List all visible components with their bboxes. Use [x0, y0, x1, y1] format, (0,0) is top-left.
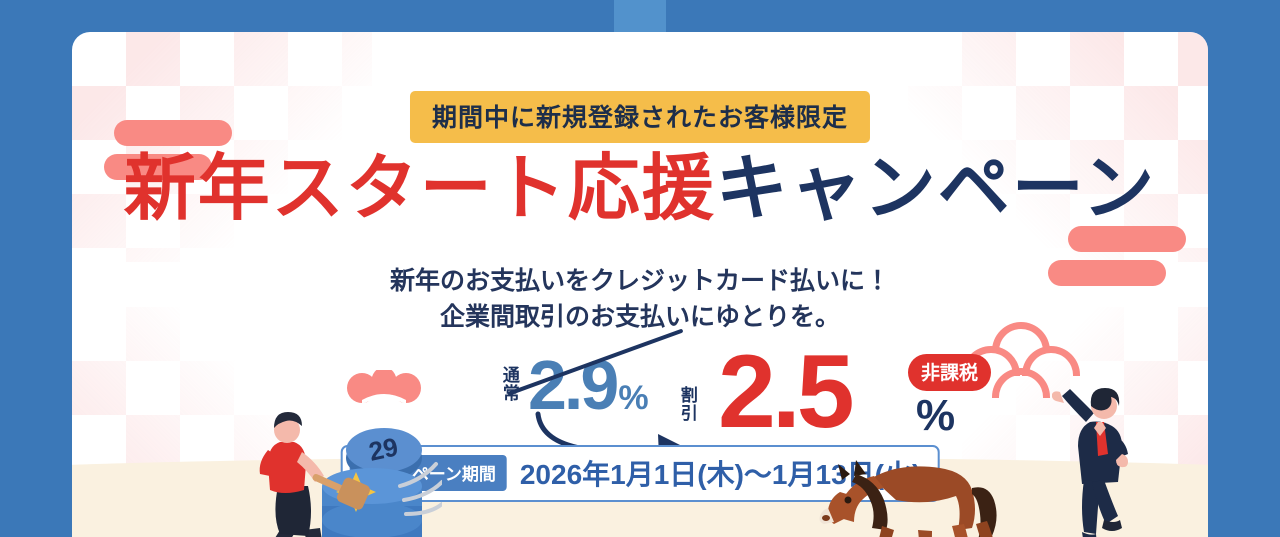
- mochi-pounding-illustration: [232, 390, 442, 537]
- subtitle: 新年のお支払いをクレジットカード払いに！ 企業間取引のお支払いにゆとりを。: [390, 264, 890, 335]
- eligibility-badge: 期間中に新規登録されたお客様限定: [410, 91, 870, 143]
- horse-illustration: [812, 430, 1012, 537]
- coin-stack-icon: [322, 468, 422, 537]
- title-part-navy: キャンペーン: [716, 149, 1156, 229]
- discount-rate-label: 割引: [678, 386, 696, 422]
- tax-free-badge: 非課税: [908, 354, 991, 391]
- discount-rate-value: 2.5: [718, 340, 851, 444]
- subtitle-line-2: 企業間取引のお支払いにゆとりを。: [390, 300, 890, 336]
- page-title: 新年スタート応援キャンペーン: [124, 153, 1156, 225]
- normal-rate-label: 通常: [500, 366, 518, 402]
- businesswoman-illustration: [1052, 382, 1168, 537]
- promo-card: 期間中に新規登録されたお客様限定 新年スタート応援キャンペーン 新年のお支払いを…: [72, 32, 1208, 537]
- subtitle-line-1: 新年のお支払いをクレジットカード払いに！: [390, 264, 890, 300]
- title-part-red: 新年スタート応援: [124, 149, 716, 229]
